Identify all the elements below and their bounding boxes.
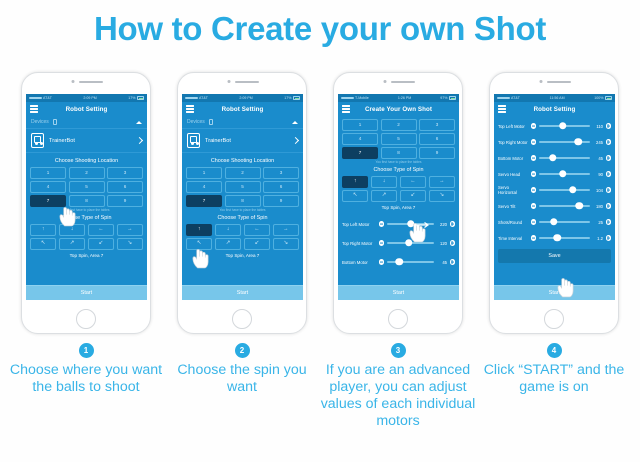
status-bar: AT&T 11:56 AM 100% [494, 94, 615, 102]
slider-label: Servo Tilt [498, 204, 528, 209]
start-button[interactable]: Start [494, 285, 615, 300]
phone-mockup-2: AT&T 2:09 PM 17% Robot Setting Devices [177, 72, 307, 334]
slider-knob[interactable] [559, 170, 567, 178]
location-cell-selected[interactable]: 7 [342, 147, 378, 159]
slider-row[interactable]: Time Interval 1.2 [498, 230, 611, 246]
slider-label: Time Interval [498, 236, 528, 241]
location-cell[interactable]: 5 [69, 181, 105, 193]
spin-cell[interactable]: ← [88, 224, 114, 236]
slider-value: 220 [436, 222, 447, 227]
step-3: T-Mobile 1:26 PM 97% Create Your Own Sho… [318, 72, 478, 462]
battery-icon: 17% [284, 96, 300, 100]
step-2: AT&T 2:09 PM 17% Robot Setting Devices [162, 72, 322, 462]
plus-icon[interactable] [606, 219, 612, 225]
chevron-right-icon[interactable] [292, 137, 299, 144]
step-4: AT&T 11:56 AM 100% Robot Setting Top Lef… [474, 72, 634, 462]
slider-row[interactable]: Shots/Round 25 [498, 214, 611, 230]
minus-icon[interactable] [379, 221, 385, 227]
slider-row[interactable]: Top Left Motor 110 [498, 118, 611, 134]
chevron-up-icon[interactable] [292, 121, 298, 124]
phone-screen-1: AT&T 2:09 PM 17% Robot Setting Devices [26, 94, 147, 300]
battery-icon: 100% [594, 96, 612, 100]
slider-knob[interactable] [569, 186, 577, 194]
spin-cell[interactable]: ↙ [88, 238, 114, 250]
location-grid-3: 1 2 3 4 5 6 7 8 9 [338, 116, 459, 159]
slider-label: Shots/Round [498, 220, 528, 225]
slider-track[interactable] [539, 173, 590, 174]
spin-section-label: Choose Type of Spin [182, 214, 303, 224]
spin-section-label: Choose Type of Spin [26, 214, 147, 224]
spin-grid-2: ↑ ↓ ← → ↖ ↗ ↙ ↘ [182, 224, 303, 250]
plus-icon[interactable] [606, 155, 612, 161]
plus-icon[interactable] [450, 221, 456, 227]
slider-track[interactable] [539, 189, 590, 190]
slider-label: Servo Horizontal [498, 185, 528, 195]
shot-status: Top Spin, Area 7 [182, 250, 303, 261]
location-cell[interactable]: 4 [186, 181, 222, 193]
slider-knob[interactable] [559, 122, 567, 130]
minus-icon[interactable] [531, 203, 537, 209]
slider-row[interactable]: Top Right Motor 245 [498, 134, 611, 150]
plus-icon[interactable] [606, 139, 612, 145]
location-cell-selected[interactable]: 7 [30, 195, 66, 207]
home-button[interactable] [232, 309, 252, 329]
devices-label: Devices [187, 119, 205, 125]
status-bar: AT&T 2:09 PM 17% [182, 94, 303, 102]
plus-icon[interactable] [606, 123, 612, 129]
nav-title: Create Your Own Shot [338, 106, 459, 113]
step-1: AT&T 2:09 PM 17% Robot Setting Devices [6, 72, 166, 462]
location-cell[interactable]: 2 [381, 119, 417, 131]
slider-label: Top Right Motor [498, 140, 528, 145]
slider-value: 1.2 [592, 236, 603, 241]
spin-cell[interactable]: ↑ [30, 224, 56, 236]
minus-icon[interactable] [531, 155, 537, 161]
slider-label: Top Left Motor [498, 124, 528, 129]
infographic-page: How to Create your own Shot AT&T 2:09 PM… [0, 0, 640, 462]
camera-icon [72, 80, 75, 83]
nav-bar: Robot Setting [182, 102, 303, 116]
spin-cell[interactable]: ↙ [244, 238, 270, 250]
location-cell[interactable]: 2 [225, 167, 261, 179]
nav-bar: Robot Setting [494, 102, 615, 116]
shot-status: Top Spin, Area 7 [26, 250, 147, 261]
drag-arrow-icon [416, 222, 432, 228]
slider-row[interactable]: Top Right Motor 120 [342, 234, 455, 253]
device-item-trainerbot[interactable]: TrainerBot [182, 129, 303, 153]
chevron-right-icon[interactable] [136, 137, 143, 144]
location-cell[interactable]: 6 [263, 181, 299, 193]
location-cell[interactable]: 3 [107, 167, 143, 179]
location-cell[interactable]: 9 [419, 147, 455, 159]
slider-knob[interactable] [575, 138, 583, 146]
slider-track[interactable] [387, 261, 434, 262]
home-button[interactable] [76, 309, 96, 329]
speaker-icon [235, 81, 259, 84]
nav-title: Robot Setting [182, 106, 303, 113]
slider-row[interactable]: Servo Head 90 [498, 166, 611, 182]
location-cell[interactable]: 6 [107, 181, 143, 193]
signal-icon: AT&T [29, 96, 52, 100]
speaker-icon [391, 81, 415, 84]
location-cell[interactable]: 1 [186, 167, 222, 179]
spin-cell[interactable]: → [273, 224, 299, 236]
location-grid-1: 1 2 3 4 5 6 7 8 9 [26, 167, 147, 207]
start-button[interactable]: Start [26, 285, 147, 300]
slider-value: 90 [592, 172, 603, 177]
slider-knob[interactable] [549, 154, 557, 162]
location-cell[interactable]: 1 [30, 167, 66, 179]
spin-cell[interactable]: ↘ [273, 238, 299, 250]
spin-cell[interactable]: ← [244, 224, 270, 236]
location-grid-2: 1 2 3 4 5 6 7 8 9 [182, 167, 303, 207]
location-cell[interactable]: 4 [30, 181, 66, 193]
location-cell-selected[interactable]: 7 [186, 195, 222, 207]
location-cell[interactable]: 2 [69, 167, 105, 179]
spin-cell[interactable]: ↖ [30, 238, 56, 250]
phone-screen-2: AT&T 2:09 PM 17% Robot Setting Devices [182, 94, 303, 300]
status-bar: AT&T 2:09 PM 17% [26, 94, 147, 102]
slider-knob[interactable] [407, 220, 415, 228]
slider-row[interactable]: Bottom Motor 45 [498, 150, 611, 166]
signal-icon: AT&T [185, 96, 208, 100]
location-cell[interactable]: 4 [342, 133, 378, 145]
slider-knob[interactable] [550, 218, 558, 226]
location-cell[interactable]: 8 [381, 147, 417, 159]
speaker-icon [79, 81, 103, 84]
nav-title: Robot Setting [494, 106, 615, 113]
spin-cell[interactable]: ↓ [215, 224, 241, 236]
steps-container: AT&T 2:09 PM 17% Robot Setting Devices [0, 72, 640, 462]
spin-cell-selected[interactable]: ↑ [186, 224, 212, 236]
phone-mockup-4: AT&T 11:56 AM 100% Robot Setting Top Lef… [489, 72, 619, 334]
slider-track[interactable] [539, 157, 590, 158]
status-time: 2:09 PM [52, 96, 128, 100]
spin-cell-selected[interactable]: ↑ [342, 176, 368, 188]
camera-icon [228, 80, 231, 83]
spin-grid-1: ↑ ↓ ← → ↖ ↗ ↙ ↘ [26, 224, 147, 250]
home-button[interactable] [388, 309, 408, 329]
plus-icon[interactable] [450, 240, 456, 246]
phone-mockup-3: T-Mobile 1:26 PM 97% Create Your Own Sho… [333, 72, 463, 334]
slider-track[interactable] [387, 242, 434, 243]
spin-cell[interactable]: ↘ [117, 238, 143, 250]
nav-title: Robot Setting [26, 106, 147, 113]
spin-cell[interactable]: ↖ [186, 238, 212, 250]
location-section-label: Choose Shooting Location [182, 153, 303, 167]
minus-icon[interactable] [379, 240, 385, 246]
location-cell[interactable]: 5 [225, 181, 261, 193]
minus-icon[interactable] [531, 235, 537, 241]
battery-icon: 97% [440, 96, 456, 100]
minus-icon[interactable] [531, 123, 537, 129]
slider-track[interactable] [539, 125, 590, 126]
spin-cell[interactable]: ↙ [400, 190, 426, 202]
status-time: 2:09 PM [208, 96, 284, 100]
slider-track[interactable] [539, 141, 590, 142]
device-icon [209, 119, 214, 125]
motor-sliders-4: Top Left Motor 110 Top Right Motor 245 [494, 116, 615, 246]
spin-section-label: Choose Type of Spin [338, 166, 459, 176]
location-cell[interactable]: 6 [419, 133, 455, 145]
spin-grid-3: ↑ ↓ ← → ↖ ↗ ↙ ↘ [338, 176, 459, 202]
phone-screen-3: T-Mobile 1:26 PM 97% Create Your Own Sho… [338, 94, 459, 300]
step-caption: Choose the spin you want [162, 362, 322, 396]
status-time: 11:56 AM [520, 96, 594, 100]
location-note: You first have to place the tables [182, 207, 303, 215]
slider-row[interactable]: Bottom Motor 45 [342, 253, 455, 272]
location-cell[interactable]: 8 [69, 195, 105, 207]
plus-icon[interactable] [606, 171, 612, 177]
step-badge: 1 [79, 343, 94, 358]
minus-icon[interactable] [531, 219, 537, 225]
slider-label: Bottom Motor [498, 156, 528, 161]
plus-icon[interactable] [450, 259, 456, 265]
save-button[interactable]: Save [498, 249, 611, 263]
device-name: TrainerBot [49, 138, 75, 144]
location-cell[interactable]: 5 [381, 133, 417, 145]
slider-value: 25 [592, 220, 603, 225]
signal-icon: T-Mobile [341, 96, 369, 100]
slider-track[interactable] [539, 205, 590, 206]
devices-row[interactable]: Devices [26, 116, 147, 129]
location-cell[interactable]: 8 [225, 195, 261, 207]
slider-value: 180 [592, 204, 603, 209]
location-cell[interactable]: 9 [107, 195, 143, 207]
robot-icon [187, 133, 200, 148]
phone-mockup-1: AT&T 2:09 PM 17% Robot Setting Devices [21, 72, 151, 334]
location-section-label: Choose Shooting Location [26, 153, 147, 167]
nav-bar: Create Your Own Shot [338, 102, 459, 116]
slider-value: 120 [436, 241, 447, 246]
camera-icon [540, 80, 543, 83]
location-cell[interactable]: 3 [263, 167, 299, 179]
slider-track[interactable] [539, 237, 590, 238]
device-item-trainerbot[interactable]: TrainerBot [26, 129, 147, 153]
spin-cell[interactable]: ↘ [429, 190, 455, 202]
spin-cell[interactable]: ↗ [371, 190, 397, 202]
devices-row[interactable]: Devices [182, 116, 303, 129]
slider-label: Top Right Motor [342, 241, 376, 246]
robot-icon [31, 133, 44, 148]
device-name: TrainerBot [205, 138, 231, 144]
status-time: 1:26 PM [369, 96, 441, 100]
minus-icon[interactable] [531, 139, 537, 145]
step-caption: Click “START” and the game is on [474, 362, 634, 396]
plus-icon[interactable] [606, 235, 612, 241]
minus-icon[interactable] [379, 259, 385, 265]
home-button[interactable] [544, 309, 564, 329]
device-icon [53, 119, 58, 125]
spin-cell[interactable]: ↗ [59, 238, 85, 250]
spin-cell[interactable]: → [429, 176, 455, 188]
slider-value: 45 [592, 156, 603, 161]
start-button[interactable]: Start [338, 285, 459, 300]
spin-cell[interactable]: ↓ [59, 224, 85, 236]
slider-row[interactable]: Top Left Motor 220 [342, 215, 455, 234]
slider-track[interactable] [539, 221, 590, 222]
slider-knob[interactable] [405, 239, 413, 247]
slider-row[interactable]: Servo Tilt 180 [498, 198, 611, 214]
minus-icon[interactable] [531, 171, 537, 177]
devices-label: Devices [31, 119, 49, 125]
slider-label: Servo Head [498, 172, 528, 177]
location-note: You first have to place the tables [338, 159, 459, 167]
location-cell[interactable]: 1 [342, 119, 378, 131]
slider-row[interactable]: Servo Horizontal 104 [498, 182, 611, 198]
slider-value: 45 [436, 260, 447, 265]
slider-label: Bottom Motor [342, 260, 376, 265]
slider-value: 104 [592, 188, 603, 193]
location-cell[interactable]: 9 [263, 195, 299, 207]
nav-bar: Robot Setting [26, 102, 147, 116]
step-badge: 2 [235, 343, 250, 358]
spin-cell[interactable]: ← [400, 176, 426, 188]
camera-icon [384, 80, 387, 83]
slider-value: 110 [592, 124, 603, 129]
spin-cell[interactable]: ↖ [342, 190, 368, 202]
slider-value: 245 [592, 140, 603, 145]
plus-icon[interactable] [606, 187, 612, 193]
spin-cell[interactable]: ↓ [371, 176, 397, 188]
minus-icon[interactable] [531, 187, 537, 193]
motor-sliders-3: Top Left Motor 220 Top Right Motor 120 [338, 213, 459, 272]
start-button[interactable]: Start [182, 285, 303, 300]
spin-cell[interactable]: ↗ [215, 238, 241, 250]
location-note: You first have to place the tables [26, 207, 147, 215]
shot-status: Top Spin, Area 7 [338, 202, 459, 213]
speaker-icon [547, 81, 571, 84]
page-title: How to Create your own Shot [0, 10, 640, 48]
step-caption: If you are an advanced player, you can a… [318, 362, 478, 430]
signal-icon: AT&T [497, 96, 520, 100]
phone-screen-4: AT&T 11:56 AM 100% Robot Setting Top Lef… [494, 94, 615, 300]
slider-knob[interactable] [554, 234, 562, 242]
slider-knob[interactable] [576, 202, 584, 210]
step-caption: Choose where you want the balls to shoot [6, 362, 166, 396]
slider-label: Top Left Motor [342, 222, 376, 227]
location-cell[interactable]: 3 [419, 119, 455, 131]
status-bar: T-Mobile 1:26 PM 97% [338, 94, 459, 102]
step-badge: 3 [391, 343, 406, 358]
plus-icon[interactable] [606, 203, 612, 209]
spin-cell[interactable]: → [117, 224, 143, 236]
step-badge: 4 [547, 343, 562, 358]
battery-icon: 17% [128, 96, 144, 100]
chevron-up-icon[interactable] [136, 121, 142, 124]
slider-knob[interactable] [395, 258, 403, 266]
